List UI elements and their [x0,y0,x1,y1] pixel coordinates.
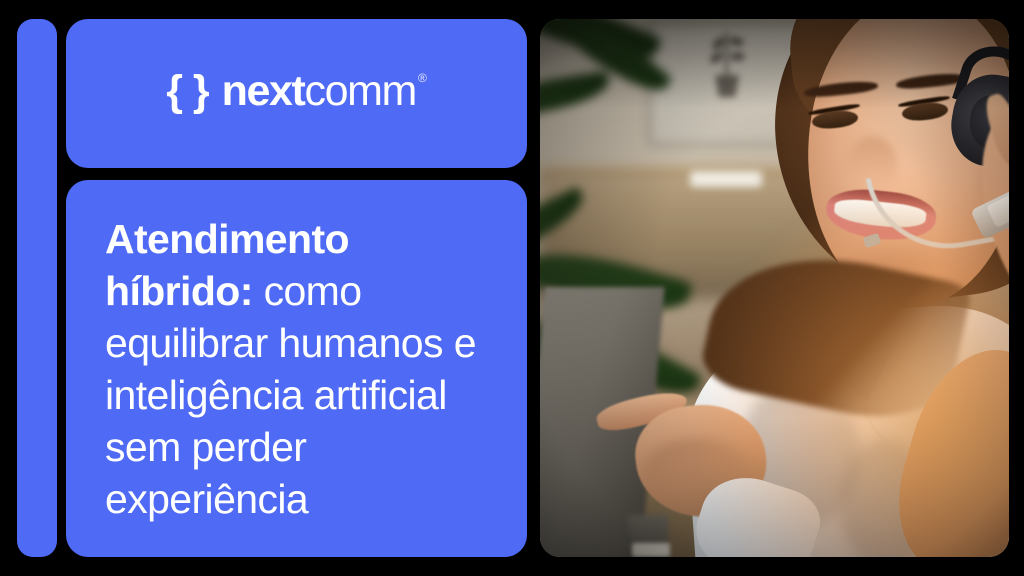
photo-illustration [540,19,1009,557]
support-agent-figure [540,19,1009,557]
headline-text: Atendimento híbrido: como equilibrar hum… [105,213,491,525]
left-accent-bar [17,19,57,557]
logo-word-comm: comm [304,70,415,113]
registered-trademark-icon: ® [418,72,427,84]
headline-card: Atendimento híbrido: como equilibrar hum… [66,180,527,557]
social-card-slide: { } next comm ® Atendimento híbrido: com… [0,0,1024,576]
logo-card: { } next comm ® [66,19,527,168]
hero-photo [540,19,1009,557]
logo-word-next: next [222,70,305,113]
nextcomm-logo: { } next comm ® [166,70,427,113]
curly-braces-icon: { } [166,70,208,113]
